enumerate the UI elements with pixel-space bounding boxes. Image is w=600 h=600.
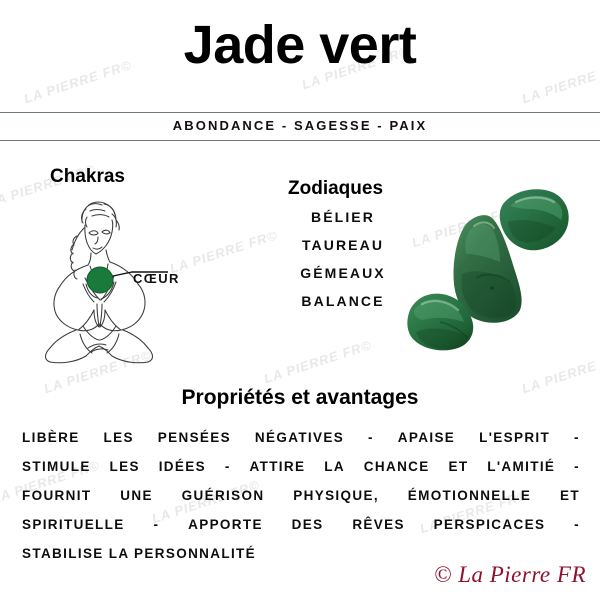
divider-bottom — [0, 140, 600, 141]
list-item: BALANCE — [280, 287, 406, 315]
word: - — [574, 452, 580, 481]
word: UNE — [120, 481, 153, 510]
word: APAISE — [398, 423, 455, 452]
word: STIMULE — [22, 452, 91, 481]
info-card: LA PIERRE FR© LA PIERRE FR© LA PIERRE FR… — [0, 0, 600, 600]
word: ATTIRE — [250, 452, 306, 481]
word: CHANCE — [364, 452, 430, 481]
word: PERSPICACES — [434, 510, 546, 539]
word: ET — [560, 481, 580, 510]
word: SPIRITUELLE — [22, 510, 125, 539]
word: DES — [292, 510, 324, 539]
word: NÉGATIVES — [255, 423, 344, 452]
properties-line-2: STIMULE LES IDÉES - ATTIRE LA CHANCE ET … — [22, 452, 580, 481]
list-item: TAUREAU — [280, 231, 406, 259]
properties-heading: Propriétés et avantages — [0, 386, 600, 410]
brand-signature: © La Pierre FR — [434, 562, 586, 588]
properties-line-1: LIBÈRE LES PENSÉES NÉGATIVES - APAISE L'… — [22, 423, 580, 452]
word: - — [368, 423, 374, 452]
page-title: Jade vert — [0, 14, 600, 76]
word: ET — [448, 452, 468, 481]
watermark: LA PIERRE FR© — [168, 227, 280, 276]
watermark: LA PIERRE FR© — [262, 337, 374, 386]
word: - — [153, 510, 159, 539]
word: LES — [104, 423, 134, 452]
coeur-label: CŒUR — [133, 271, 180, 286]
properties-text: LIBÈRE LES PENSÉES NÉGATIVES - APAISE L'… — [22, 423, 580, 568]
properties-line-4: SPIRITUELLE - APPORTE DES RÊVES PERSPICA… — [22, 510, 580, 539]
properties-line-3: FOURNIT UNE GUÉRISON PHYSIQUE, ÉMOTIONNE… — [22, 481, 580, 510]
word: IDÉES — [159, 452, 206, 481]
zodiaques-heading: Zodiaques — [288, 178, 383, 200]
word: L'ESPRIT — [479, 423, 550, 452]
word: L'AMITIÉ — [487, 452, 555, 481]
word: GUÉRISON — [182, 481, 265, 510]
divider-top — [0, 112, 600, 113]
list-item: BÉLIER — [280, 203, 406, 231]
word: LES — [110, 452, 140, 481]
jade-stones-image — [396, 182, 596, 362]
word: - — [574, 423, 580, 452]
list-item: GÉMEAUX — [280, 259, 406, 287]
word: FOURNIT — [22, 481, 91, 510]
word: ÉMOTIONNELLE — [408, 481, 531, 510]
word: APPORTE — [188, 510, 263, 539]
word: PENSÉES — [158, 423, 231, 452]
word: LIBÈRE — [22, 423, 80, 452]
word: - — [225, 452, 231, 481]
word: RÊVES — [352, 510, 405, 539]
page-subtitle: ABONDANCE - SAGESSE - PAIX — [0, 118, 600, 133]
word: LA — [324, 452, 345, 481]
word: PHYSIQUE, — [293, 481, 379, 510]
chakras-heading: Chakras — [50, 166, 125, 188]
zodiac-list: BÉLIER TAUREAU GÉMEAUX BALANCE — [280, 203, 406, 315]
word: - — [574, 510, 580, 539]
